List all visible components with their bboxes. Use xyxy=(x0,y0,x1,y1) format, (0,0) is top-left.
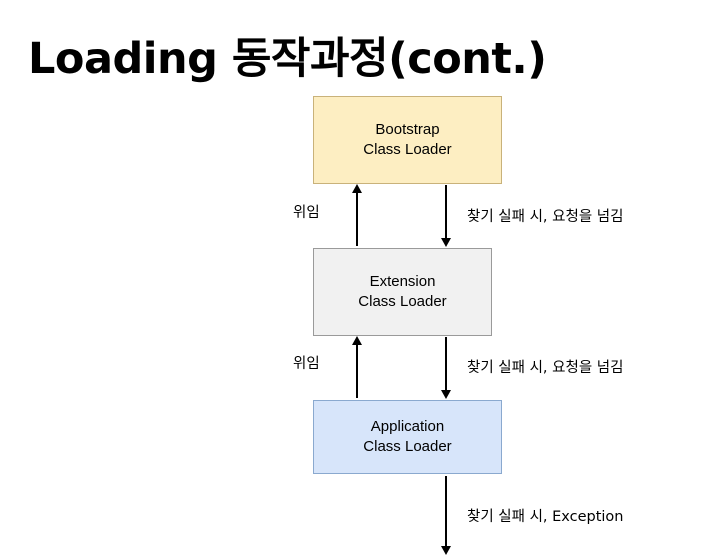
arrowhead-down-icon xyxy=(441,390,451,399)
slide-canvas: Loading 동작과정(cont.) Bootstrap Class Load… xyxy=(0,0,719,556)
edge-line-delegate-extension-to-bootstrap xyxy=(356,193,358,246)
arrowhead-up-icon xyxy=(352,336,362,345)
arrowhead-down-icon xyxy=(441,238,451,247)
node-extension-class-loader: Extension Class Loader xyxy=(313,248,492,336)
node-extension-label-line2: Class Loader xyxy=(358,292,446,312)
edge-label-delegate-application-to-extension: 위임 xyxy=(293,352,320,373)
node-extension-label-line1: Extension xyxy=(370,272,436,292)
edge-line-fail-application-exception xyxy=(445,476,447,546)
edge-line-delegate-application-to-extension xyxy=(356,345,358,398)
edge-line-fail-extension-to-application xyxy=(445,337,447,390)
node-bootstrap-label-line2: Class Loader xyxy=(363,140,451,160)
node-bootstrap-label-line1: Bootstrap xyxy=(375,120,439,140)
page-title: Loading 동작과정(cont.) xyxy=(28,24,546,86)
node-application-label-line2: Class Loader xyxy=(363,437,451,457)
edge-label-delegate-extension-to-bootstrap: 위임 xyxy=(293,201,320,222)
node-application-label-line1: Application xyxy=(371,417,444,437)
node-bootstrap-class-loader: Bootstrap Class Loader xyxy=(313,96,502,184)
edge-line-fail-bootstrap-to-extension xyxy=(445,185,447,238)
edge-label-fail-application-exception: 찾기 실패 시, Exception xyxy=(467,505,624,526)
arrowhead-up-icon xyxy=(352,184,362,193)
arrowhead-down-icon xyxy=(441,546,451,555)
edge-label-fail-extension-to-application: 찾기 실패 시, 요청을 넘김 xyxy=(467,356,623,377)
edge-label-fail-bootstrap-to-extension: 찾기 실패 시, 요청을 넘김 xyxy=(467,205,623,226)
node-application-class-loader: Application Class Loader xyxy=(313,400,502,474)
